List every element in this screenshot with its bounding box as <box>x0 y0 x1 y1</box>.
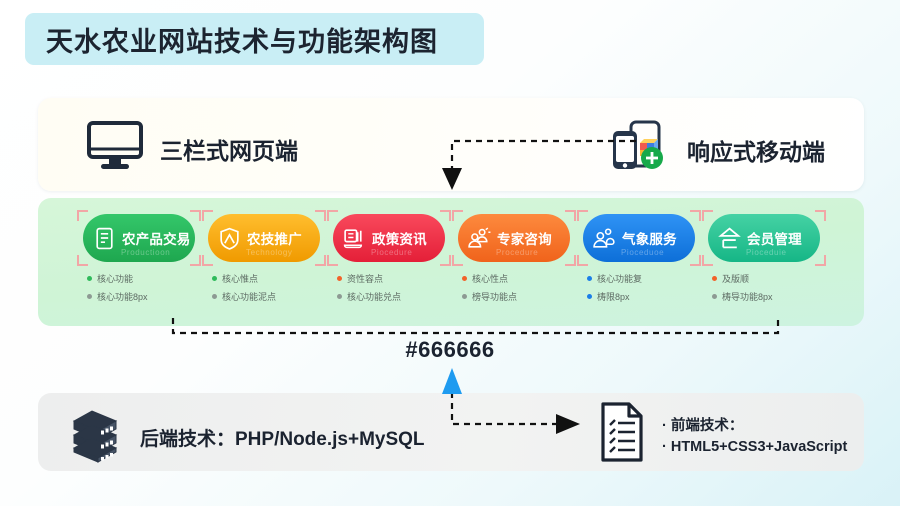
backend-tech-label: 后端技术：PHP/Node.js+MySQL <box>140 424 425 451</box>
page-title-chip: 天水农业网站技术与功能架构图 <box>25 13 484 65</box>
bullet-item: 榜导功能点 <box>462 290 517 303</box>
frontend-tech-lines: · 前端技术： · HTML5+CSS3+JavaScript <box>662 414 847 455</box>
bullet-item: 梼限8px <box>587 290 642 303</box>
document-page-icon <box>598 401 646 468</box>
document-list-icon <box>92 226 117 251</box>
member-hui-icon <box>717 226 742 251</box>
module-bullets: 及版顺 梼导功能8px <box>712 272 773 308</box>
bullet-dot <box>337 276 342 281</box>
module-ghost-text: Technology <box>246 248 292 257</box>
module-ghost-text: Procedure <box>496 248 538 257</box>
backend-tech[interactable]: 后端技术：PHP/Node.js+MySQL <box>68 407 425 468</box>
monitor-icon <box>86 120 144 177</box>
frontend-line-2: · HTML5+CSS3+JavaScript <box>662 439 847 455</box>
module-pill[interactable]: 会员管理 Pioceduie <box>708 214 820 262</box>
module-bullets: 资性容点 核心功能兑点 <box>337 272 401 308</box>
bullet-text: 资性容点 <box>347 272 383 285</box>
shield-leaf-icon <box>217 226 242 251</box>
bullet-item: 核心功能8px <box>87 290 148 303</box>
arrowhead-up-icon <box>442 368 462 394</box>
module-ghost-text: Pioceduie <box>746 248 787 257</box>
bullet-text: 核心功能8px <box>97 290 148 303</box>
client-web-label: 三栏式网页端 <box>160 132 298 166</box>
client-mobile-label: 响应式移动端 <box>687 133 825 167</box>
bullet-dot <box>87 276 92 281</box>
bullet-dot <box>462 276 467 281</box>
bullet-text: 核心功能泥点 <box>222 290 276 303</box>
client-mobile[interactable]: 响应式移动端 <box>609 120 825 179</box>
bullet-text: 及版顺 <box>722 272 749 285</box>
module-ghost-text: Productioon <box>121 248 170 257</box>
bullet-item: 核心功能复 <box>587 272 642 285</box>
module-name: 专家咨询 <box>497 228 552 248</box>
module-pill[interactable]: 专家咨询 Procedure <box>458 214 570 262</box>
bullet-dot <box>337 294 342 299</box>
bullet-dot <box>462 294 467 299</box>
module-name: 政策资讯 <box>372 228 427 248</box>
bullet-text: 核心惟点 <box>222 272 258 285</box>
module-name: 农技推广 <box>247 228 302 248</box>
tech-stack-panel: 后端技术：PHP/Node.js+MySQL · 前端技术： · HTML5 <box>38 393 864 471</box>
module-ghost-text: Piocedure <box>371 248 412 257</box>
bullet-dot <box>712 276 717 281</box>
module-bullets: 核心性点 榜导功能点 <box>462 272 517 308</box>
hex-color-label: #666666 <box>0 337 900 363</box>
bullet-item: 核心功能兑点 <box>337 290 401 303</box>
policy-screen-icon <box>342 226 367 251</box>
bullet-item: 核心功能泥点 <box>212 290 276 303</box>
module-pill[interactable]: 农技推广 Technology <box>208 214 320 262</box>
module-name: 气象服务 <box>622 228 677 248</box>
bullet-item: 及版顺 <box>712 272 773 285</box>
bullet-item: 梼导功能8px <box>712 290 773 303</box>
bullet-text: 核心功能兑点 <box>347 290 401 303</box>
mobile-devices-icon <box>609 120 671 179</box>
diagram-canvas: 天水农业网站技术与功能架构图 三栏式网页端 <box>0 0 900 506</box>
bullet-dot <box>587 294 592 299</box>
frontend-line-1: · 前端技术： <box>662 414 847 435</box>
weather-people-icon <box>592 226 617 251</box>
bullet-dot <box>587 276 592 281</box>
server-stack-icon <box>68 407 122 468</box>
client-platforms-panel: 三栏式网页端 <box>38 98 864 191</box>
function-modules-band: 农产品交易 Productioon 核心功能 核心功能8px 农技推广 Tech… <box>38 198 864 326</box>
bullet-item: 核心性点 <box>462 272 517 285</box>
bullet-item: 核心功能 <box>87 272 148 285</box>
bullet-text: 梼限8px <box>597 290 630 303</box>
module-name: 农产品交易 <box>122 228 191 248</box>
page-title: 天水农业网站技术与功能架构图 <box>46 20 438 59</box>
bullet-item: 核心惟点 <box>212 272 276 285</box>
bullet-text: 梼导功能8px <box>722 290 773 303</box>
bullet-text: 核心功能复 <box>597 272 642 285</box>
client-web[interactable]: 三栏式网页端 <box>86 120 298 177</box>
bullet-text: 核心功能 <box>97 272 133 285</box>
module-pill[interactable]: 气象服务 Pioceduoe <box>583 214 695 262</box>
module-bullets: 核心惟点 核心功能泥点 <box>212 272 276 308</box>
experts-group-icon <box>467 226 492 251</box>
module-name: 会员管理 <box>747 228 802 248</box>
module-bullets: 核心功能 核心功能8px <box>87 272 148 308</box>
bullet-dot <box>712 294 717 299</box>
bullet-dot <box>87 294 92 299</box>
bullet-dot <box>212 294 217 299</box>
module-bullets: 核心功能复 梼限8px <box>587 272 642 308</box>
module-pill[interactable]: 农产品交易 Productioon <box>83 214 195 262</box>
frontend-tech[interactable]: · 前端技术： · HTML5+CSS3+JavaScript <box>598 401 847 468</box>
bullet-text: 榜导功能点 <box>472 290 517 303</box>
module-pill[interactable]: 政策资讯 Piocedure <box>333 214 445 262</box>
module-ghost-text: Pioceduoe <box>621 248 664 257</box>
bullet-text: 核心性点 <box>472 272 508 285</box>
bullet-item: 资性容点 <box>337 272 401 285</box>
bullet-dot <box>212 276 217 281</box>
